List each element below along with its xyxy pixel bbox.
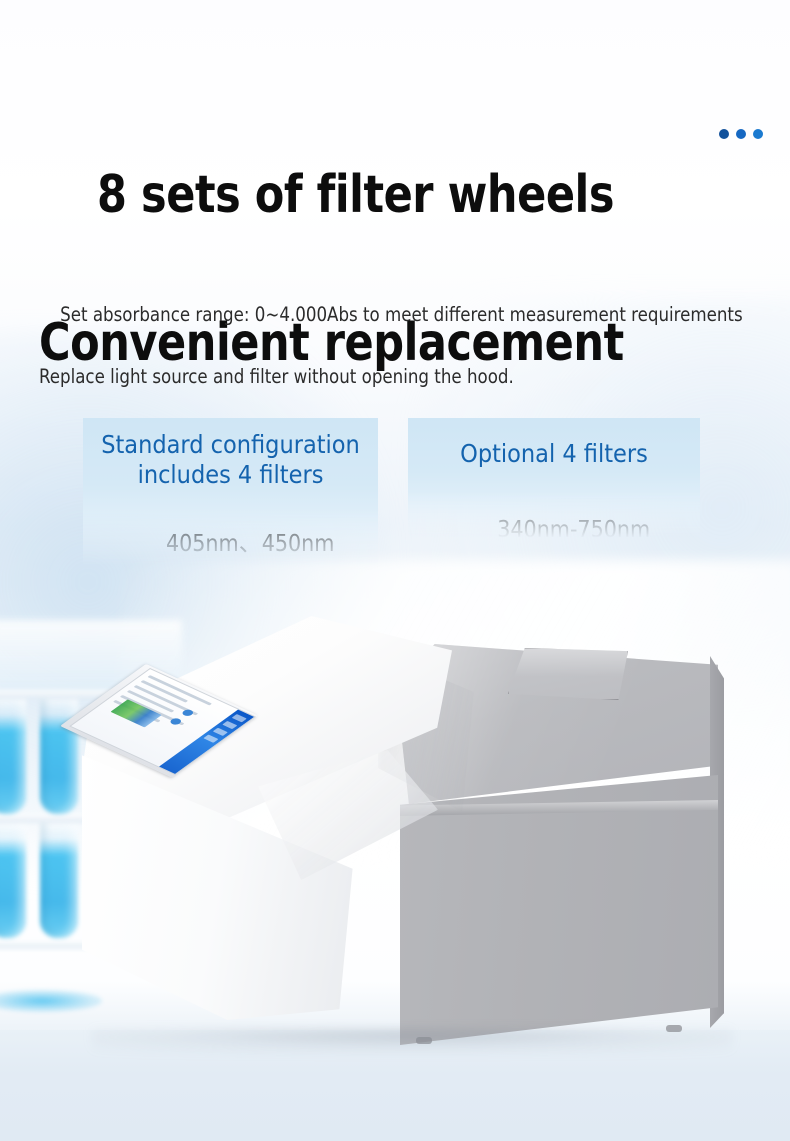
device-access-panel-highlight — [508, 648, 628, 700]
dot-icon — [736, 129, 746, 139]
screen-menu-item[interactable] — [203, 735, 218, 743]
screen-menu-item[interactable] — [222, 721, 237, 729]
feature-card-title: Standard configuration includes 4 filter… — [83, 418, 378, 490]
page-title-line-1: 8 sets of filter wheels — [97, 165, 614, 225]
device-ground-shadow — [92, 1030, 732, 1052]
test-tube — [40, 696, 78, 814]
microplate-reader-image — [78, 600, 738, 1060]
dot-icon — [719, 129, 729, 139]
test-tube — [0, 696, 26, 814]
device-body-front — [400, 775, 718, 1045]
feature-card-title: Optional 4 filters — [408, 418, 700, 469]
feature-card-optional-filters: Optional 4 filters 340nm-750nm — [408, 418, 700, 538]
feature-value-line-1: 405nm、450nm — [166, 531, 335, 557]
test-tube — [40, 820, 78, 938]
page-subtitle-line-1: Set absorbance range: 0~4.000Abs to meet… — [60, 303, 742, 326]
screen-menu-item[interactable] — [232, 714, 247, 722]
feature-card-standard-configuration: Standard configuration includes 4 filter… — [83, 418, 378, 566]
promo-banner: 8 sets of filter wheels Convenient repla… — [0, 0, 790, 1141]
page-subtitle-line-2: Replace light source and filter without … — [39, 361, 742, 392]
ellipsis-dots-icon — [719, 128, 765, 140]
test-tube — [0, 820, 26, 938]
dot-icon — [753, 129, 763, 139]
screen-menu-item[interactable] — [213, 728, 228, 736]
